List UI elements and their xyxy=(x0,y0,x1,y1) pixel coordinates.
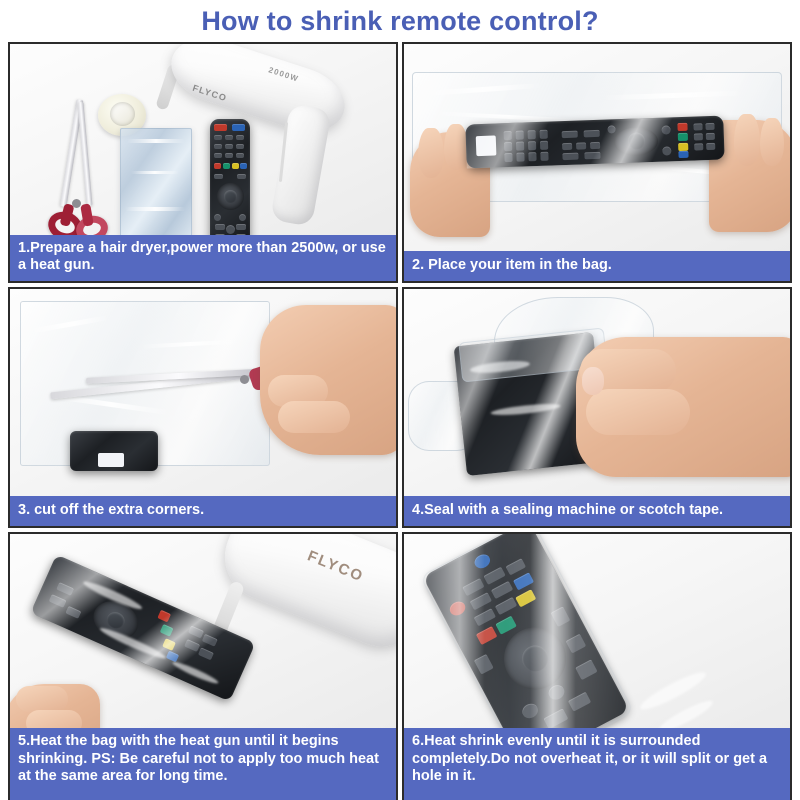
shrink-bag xyxy=(120,128,192,235)
step-panel-3: 3. cut off the extra corners. xyxy=(8,287,398,528)
title-bar: How to shrink remote control? xyxy=(0,0,800,42)
step-4-photo xyxy=(404,289,790,496)
step-2-photo xyxy=(404,44,790,251)
infographic-page: How to shrink remote control? xyxy=(0,0,800,800)
step-6-photo xyxy=(404,534,790,728)
step-panel-4: 4.Seal with a sealing machine or scotch … xyxy=(402,287,792,528)
step-panel-2: 2. Place your item in the bag. xyxy=(402,42,792,283)
page-title: How to shrink remote control? xyxy=(201,8,598,35)
remote-control xyxy=(465,116,724,169)
step-5-photo: FLYCO xyxy=(10,534,396,728)
step-panel-1: FLYCO 2000W 1.Prepare a hair dryer,power… xyxy=(8,42,398,283)
step-4-caption: 4.Seal with a sealing machine or scotch … xyxy=(404,496,790,526)
step-1-photo: FLYCO 2000W xyxy=(10,44,396,235)
step-2-caption: 2. Place your item in the bag. xyxy=(404,251,790,281)
remote-control xyxy=(70,431,158,471)
step-1-caption: 1.Prepare a hair dryer,power more than 2… xyxy=(10,235,396,281)
steps-grid: FLYCO 2000W 1.Prepare a hair dryer,power… xyxy=(8,42,792,794)
step-3-caption: 3. cut off the extra corners. xyxy=(10,496,396,526)
step-6-caption: 6.Heat shrink evenly until it is surroun… xyxy=(404,728,790,800)
step-3-photo xyxy=(10,289,396,496)
remote-control xyxy=(210,119,250,235)
step-panel-5: FLYCO xyxy=(8,532,398,800)
step-panel-6: 6.Heat shrink evenly until it is surroun… xyxy=(402,532,792,800)
step-5-caption: 5.Heat the bag with the heat gun until i… xyxy=(10,728,396,800)
